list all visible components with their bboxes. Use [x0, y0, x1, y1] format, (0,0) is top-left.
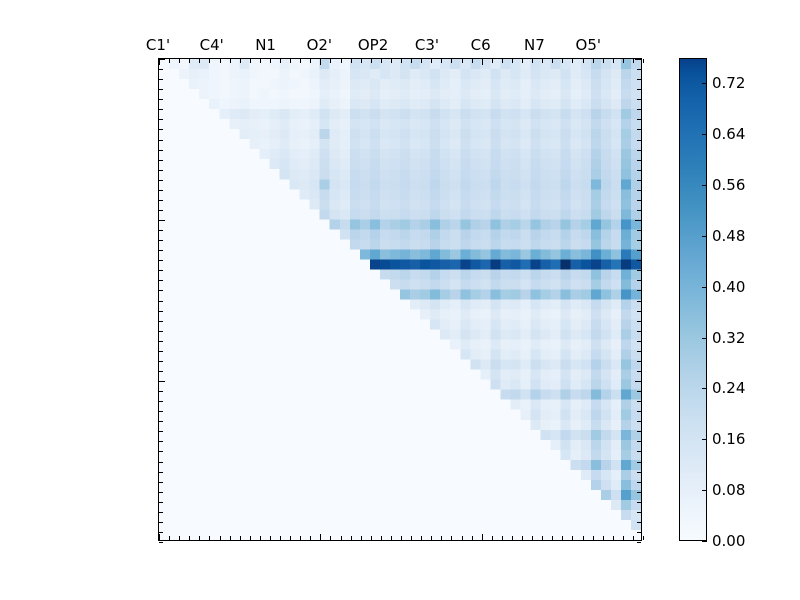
- y-tick-left: [159, 180, 163, 181]
- y-tick-right: [637, 351, 641, 352]
- x-tick-top: [482, 59, 483, 65]
- x-tick-top: [502, 59, 503, 63]
- y-tick-left: [159, 331, 163, 332]
- y-tick-left: [159, 371, 163, 372]
- x-tick-bottom: [351, 536, 352, 540]
- x-tick-top: [300, 59, 301, 63]
- x-tick-bottom: [482, 534, 483, 540]
- y-tick-left: [159, 482, 163, 483]
- y-tick-left: [159, 160, 163, 161]
- y-tick-left: [159, 150, 163, 151]
- y-tick-right: [637, 69, 641, 70]
- colorbar-tick-5: [702, 287, 707, 288]
- y-tick-right: [637, 441, 641, 442]
- x-tick-bottom: [270, 536, 271, 540]
- x-tick-top: [310, 59, 311, 63]
- y-tick-left: [159, 381, 165, 382]
- x-tick-bottom: [381, 536, 382, 540]
- y-tick-left: [159, 69, 163, 70]
- colorbar-tick-0: [702, 541, 707, 542]
- x-tick-bottom: [310, 536, 311, 540]
- y-tick-right: [637, 290, 641, 291]
- x-tick-top: [542, 59, 543, 63]
- y-tick-left: [159, 441, 163, 442]
- x-tick-bottom: [280, 536, 281, 540]
- y-tick-right: [637, 270, 641, 271]
- x-tick-label-5: C3': [415, 36, 439, 54]
- y-tick-right: [637, 190, 641, 191]
- y-tick-right: [635, 381, 641, 382]
- y-tick-left: [159, 421, 163, 422]
- x-tick-label-8: O5': [576, 36, 601, 54]
- y-tick-left: [159, 341, 163, 342]
- x-tick-bottom: [391, 536, 392, 540]
- x-tick-bottom: [169, 536, 170, 540]
- x-tick-top: [401, 59, 402, 63]
- y-tick-left: [159, 290, 163, 291]
- x-tick-top: [472, 59, 473, 63]
- x-tick-bottom: [603, 536, 604, 540]
- colorbar-tick-3: [702, 388, 707, 389]
- y-tick-right: [635, 220, 641, 221]
- y-tick-right: [637, 451, 641, 452]
- y-tick-right: [635, 59, 641, 60]
- y-tick-right: [637, 150, 641, 151]
- x-tick-bottom: [441, 536, 442, 540]
- x-tick-bottom: [583, 536, 584, 540]
- x-tick-bottom: [633, 536, 634, 540]
- y-tick-right: [637, 472, 641, 473]
- x-tick-top: [562, 59, 563, 63]
- x-tick-bottom: [260, 536, 261, 540]
- y-tick-right: [637, 462, 641, 463]
- y-tick-left: [159, 109, 163, 110]
- y-tick-right: [637, 542, 641, 543]
- y-tick-left: [159, 462, 163, 463]
- x-tick-bottom: [522, 536, 523, 540]
- colorbar-tick-label-5: 0.40: [712, 278, 745, 296]
- x-tick-top: [391, 59, 392, 63]
- colorbar-tick-label-4: 0.32: [712, 329, 745, 347]
- y-tick-right: [637, 170, 641, 171]
- colorbar-tick-label-8: 0.64: [712, 125, 745, 143]
- y-tick-right: [637, 99, 641, 100]
- x-tick-bottom: [361, 536, 362, 540]
- colorbar-tick-2: [702, 439, 707, 440]
- x-tick-label-2: N1: [255, 36, 276, 54]
- y-tick-right: [637, 119, 641, 120]
- y-tick-left: [159, 240, 163, 241]
- x-tick-top: [280, 59, 281, 63]
- y-tick-right: [637, 401, 641, 402]
- y-tick-right: [637, 109, 641, 110]
- y-tick-left: [159, 361, 163, 362]
- y-tick-right: [637, 311, 641, 312]
- y-tick-left: [159, 512, 163, 513]
- colorbar-tick-6: [702, 236, 707, 237]
- x-tick-top: [179, 59, 180, 63]
- x-tick-top: [351, 59, 352, 63]
- x-tick-top: [361, 59, 362, 63]
- y-tick-right: [637, 230, 641, 231]
- y-tick-right: [637, 371, 641, 372]
- y-tick-right: [637, 240, 641, 241]
- x-tick-top: [199, 59, 200, 63]
- y-tick-left: [159, 411, 163, 412]
- colorbar-tick-label-1: 0.08: [712, 481, 745, 499]
- y-tick-left: [159, 210, 163, 211]
- x-tick-top: [320, 59, 321, 65]
- y-tick-right: [637, 89, 641, 90]
- x-tick-top: [462, 59, 463, 63]
- colorbar-tick-8: [702, 134, 707, 135]
- x-tick-top: [341, 59, 342, 63]
- y-tick-left: [159, 129, 163, 130]
- y-tick-right: [637, 502, 641, 503]
- x-tick-bottom: [179, 536, 180, 540]
- x-tick-top: [371, 59, 372, 63]
- x-tick-top: [290, 59, 291, 63]
- y-tick-left: [159, 190, 163, 191]
- x-tick-bottom: [472, 536, 473, 540]
- y-tick-right: [637, 210, 641, 211]
- x-tick-top: [270, 59, 271, 63]
- y-tick-left: [159, 532, 163, 533]
- x-tick-bottom: [532, 536, 533, 540]
- y-tick-left: [159, 311, 163, 312]
- y-tick-left: [159, 391, 163, 392]
- x-tick-top: [623, 59, 624, 63]
- x-tick-label-1: C4': [200, 36, 224, 54]
- x-tick-bottom: [209, 536, 210, 540]
- x-tick-bottom: [492, 536, 493, 540]
- y-tick-right: [637, 341, 641, 342]
- y-tick-left: [159, 59, 165, 60]
- y-tick-right: [637, 331, 641, 332]
- x-tick-top: [633, 59, 634, 63]
- y-tick-right: [637, 532, 641, 533]
- x-tick-top: [189, 59, 190, 63]
- y-tick-right: [637, 421, 641, 422]
- y-tick-left: [159, 321, 163, 322]
- y-tick-right: [637, 79, 641, 80]
- x-tick-bottom: [159, 534, 160, 540]
- y-tick-right: [637, 200, 641, 201]
- colorbar-tick-9: [702, 83, 707, 84]
- colorbar-tick-label-2: 0.16: [712, 430, 745, 448]
- y-tick-right: [637, 522, 641, 523]
- x-tick-top: [431, 59, 432, 63]
- y-tick-left: [159, 301, 163, 302]
- y-tick-left: [159, 492, 163, 493]
- y-tick-left: [159, 119, 163, 120]
- y-tick-right: [637, 492, 641, 493]
- x-tick-top: [572, 59, 573, 63]
- x-tick-top: [492, 59, 493, 63]
- y-tick-right: [637, 160, 641, 161]
- x-tick-top: [603, 59, 604, 63]
- y-tick-left: [159, 230, 163, 231]
- x-tick-bottom: [542, 536, 543, 540]
- x-tick-bottom: [411, 536, 412, 540]
- x-tick-bottom: [290, 536, 291, 540]
- y-tick-right: [637, 321, 641, 322]
- x-tick-top: [512, 59, 513, 63]
- colorbar[interactable]: [679, 58, 707, 541]
- y-tick-left: [159, 431, 163, 432]
- x-tick-bottom: [512, 536, 513, 540]
- x-tick-label-7: N7: [524, 36, 545, 54]
- y-tick-left: [159, 451, 163, 452]
- x-tick-bottom: [421, 536, 422, 540]
- x-tick-top: [421, 59, 422, 63]
- x-tick-top: [330, 59, 331, 63]
- x-tick-top: [169, 59, 170, 63]
- heatmap-image: [159, 59, 641, 540]
- y-tick-left: [159, 542, 163, 543]
- y-tick-right: [637, 411, 641, 412]
- y-tick-right: [637, 391, 641, 392]
- x-tick-label-3: O2': [307, 36, 332, 54]
- y-tick-left: [159, 270, 163, 271]
- x-tick-bottom: [330, 536, 331, 540]
- x-tick-top: [451, 59, 452, 63]
- y-tick-right: [637, 129, 641, 130]
- x-tick-bottom: [341, 536, 342, 540]
- x-tick-top: [260, 59, 261, 63]
- y-tick-left: [159, 522, 163, 523]
- y-tick-left: [159, 472, 163, 473]
- y-tick-left: [159, 99, 163, 100]
- x-tick-bottom: [462, 536, 463, 540]
- y-tick-right: [637, 140, 641, 141]
- y-tick-left: [159, 502, 163, 503]
- y-tick-left: [159, 79, 163, 80]
- x-tick-bottom: [189, 536, 190, 540]
- x-tick-bottom: [371, 536, 372, 540]
- figure-canvas: C1'C4'N1O2'OP2C3'C6N7O5' C1'C4'N1O2'OP2C…: [0, 0, 800, 600]
- x-tick-bottom: [552, 536, 553, 540]
- x-tick-bottom: [572, 536, 573, 540]
- x-tick-bottom: [562, 536, 563, 540]
- y-tick-right: [637, 280, 641, 281]
- y-tick-left: [159, 260, 163, 261]
- colorbar-tick-label-6: 0.48: [712, 227, 745, 245]
- x-tick-top: [643, 59, 644, 63]
- y-tick-left: [159, 89, 163, 90]
- y-tick-left: [159, 140, 163, 141]
- x-tick-bottom: [199, 536, 200, 540]
- x-tick-bottom: [613, 536, 614, 540]
- x-tick-bottom: [240, 536, 241, 540]
- x-tick-top: [250, 59, 251, 63]
- x-tick-top: [532, 59, 533, 63]
- x-tick-bottom: [230, 536, 231, 540]
- x-tick-label-6: C6: [471, 36, 491, 54]
- y-tick-left: [159, 280, 163, 281]
- y-tick-left: [159, 351, 163, 352]
- y-tick-right: [637, 482, 641, 483]
- y-tick-right: [637, 260, 641, 261]
- y-tick-right: [637, 250, 641, 251]
- y-tick-left: [159, 250, 163, 251]
- colorbar-tick-1: [702, 490, 707, 491]
- x-tick-bottom: [250, 536, 251, 540]
- x-tick-label-4: OP2: [358, 36, 388, 54]
- x-tick-top: [583, 59, 584, 63]
- x-tick-top: [411, 59, 412, 63]
- y-tick-right: [637, 301, 641, 302]
- colorbar-tick-label-9: 0.72: [712, 74, 745, 92]
- x-tick-bottom: [451, 536, 452, 540]
- y-tick-right: [637, 180, 641, 181]
- x-tick-bottom: [401, 536, 402, 540]
- y-tick-left: [159, 200, 163, 201]
- x-tick-top: [230, 59, 231, 63]
- x-tick-bottom: [593, 536, 594, 540]
- x-tick-top: [209, 59, 210, 63]
- y-tick-right: [637, 512, 641, 513]
- x-tick-top: [593, 59, 594, 63]
- heatmap-axes[interactable]: [158, 58, 642, 541]
- x-tick-bottom: [431, 536, 432, 540]
- colorbar-tick-label-7: 0.56: [712, 176, 745, 194]
- x-tick-top: [220, 59, 221, 63]
- x-tick-top: [522, 59, 523, 63]
- x-tick-bottom: [300, 536, 301, 540]
- x-tick-top: [240, 59, 241, 63]
- y-tick-left: [159, 401, 163, 402]
- colorbar-tick-4: [702, 338, 707, 339]
- x-tick-bottom: [623, 536, 624, 540]
- y-tick-right: [637, 361, 641, 362]
- x-tick-top: [613, 59, 614, 63]
- x-tick-top: [552, 59, 553, 63]
- x-tick-bottom: [320, 534, 321, 540]
- x-tick-top: [381, 59, 382, 63]
- colorbar-tick-label-3: 0.24: [712, 379, 745, 397]
- x-tick-label-0: C1': [146, 36, 170, 54]
- y-tick-left: [159, 170, 163, 171]
- colorbar-tick-7: [702, 185, 707, 186]
- colorbar-tick-label-0: 0.00: [712, 532, 745, 550]
- x-tick-bottom: [220, 536, 221, 540]
- x-tick-bottom: [502, 536, 503, 540]
- y-tick-right: [637, 431, 641, 432]
- y-tick-left: [159, 220, 165, 221]
- x-tick-bottom: [643, 536, 644, 540]
- x-tick-top: [441, 59, 442, 63]
